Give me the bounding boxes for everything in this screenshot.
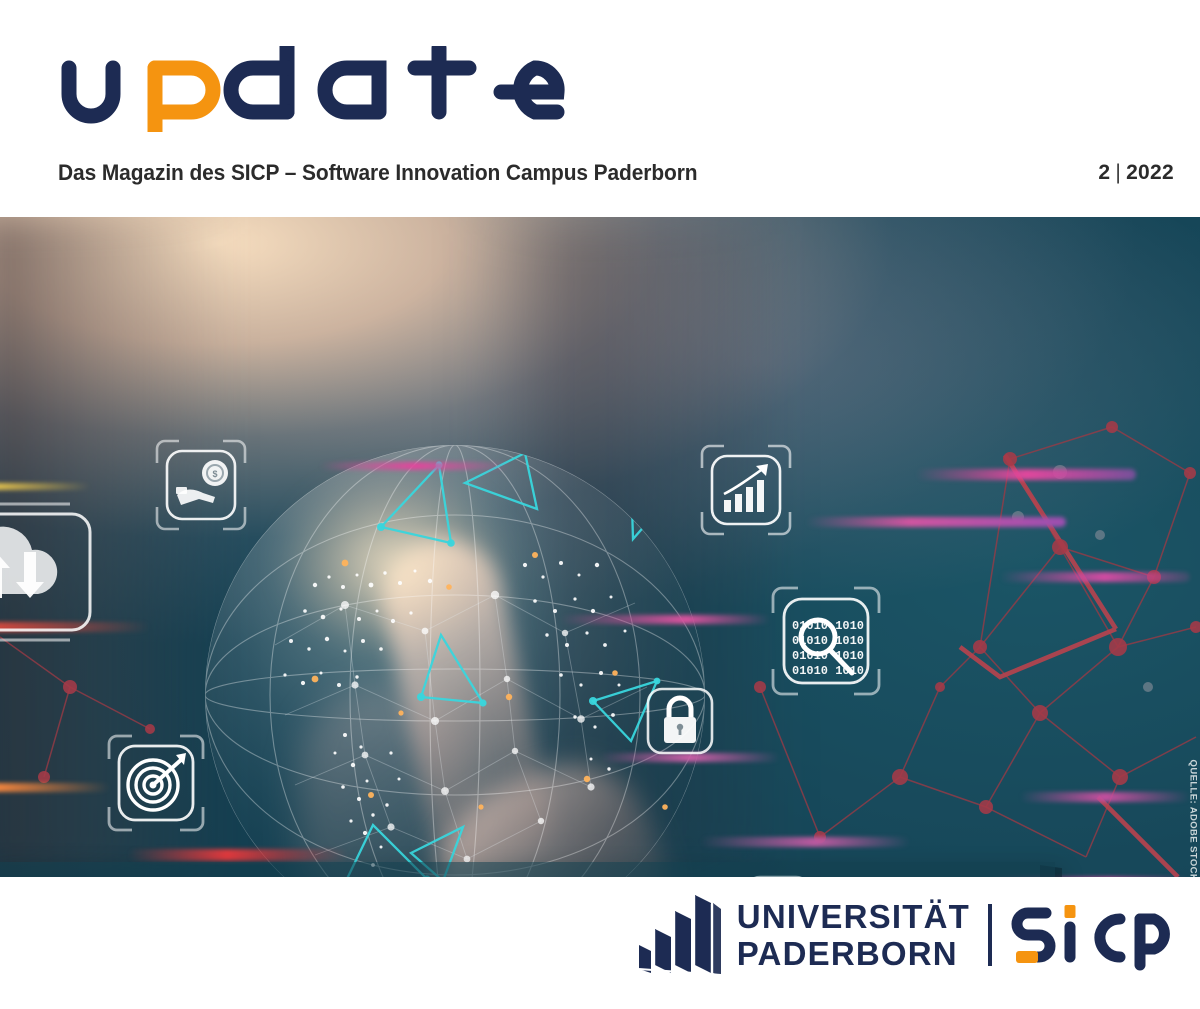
- padlock-icon: [638, 679, 722, 763]
- issue-number-value: 2: [1098, 161, 1110, 184]
- team-growth-icon: [735, 867, 821, 877]
- university-name-line2: PADERBORN: [737, 937, 970, 970]
- cover-subtitle: Das Magazin des SICP – Software Innovati…: [58, 160, 697, 186]
- streak-magenta-6: [1000, 572, 1190, 582]
- logo-divider: [988, 904, 992, 966]
- hand-money-gear-icon: $: [155, 439, 247, 531]
- university-name-line1: UNIVERSITÄT: [737, 900, 970, 933]
- streak-magenta-4: [806, 517, 1066, 527]
- wordmark-letter-e: [501, 68, 557, 112]
- streak-magenta-2: [560, 615, 770, 624]
- issue-separator: |: [1110, 161, 1126, 185]
- cover-header: Das Magazin des SICP – Software Innovati…: [0, 0, 1200, 217]
- sicp-letter-c: [1100, 919, 1120, 957]
- cloud-sync-icon: [0, 502, 100, 642]
- sicp-i-dot: [1065, 905, 1076, 918]
- sicp-s-foot: [1016, 951, 1038, 963]
- wordmark-letter-a: [325, 68, 379, 112]
- issue-year-value: 2022: [1126, 161, 1174, 184]
- streak-orange-1: [0, 783, 110, 792]
- streak-yellow-1: [0, 483, 90, 490]
- target-arrow-icon: [106, 733, 206, 833]
- university-name: UNIVERSITÄT PADERBORN: [737, 900, 970, 970]
- lock-shackle: [669, 698, 691, 717]
- update-wordmark: [57, 48, 617, 132]
- image-credit: QUELLE: ADOBE STOCK / TREECHA: [1187, 760, 1198, 877]
- cover-footer: UNIVERSITÄT PADERBORN: [0, 877, 1200, 1009]
- growth-arrow-head: [756, 464, 768, 476]
- headline-panel: [0, 862, 1055, 877]
- magazine-cover-page: Das Magazin des SICP – Software Innovati…: [0, 0, 1200, 1009]
- streak-red-2: [128, 849, 348, 861]
- streak-magenta-1: [320, 462, 510, 470]
- cover-hero-image: $: [0, 217, 1200, 877]
- binary-search-icon: 01010 1010 01010 1010 01010 1010 01010 1…: [770, 585, 882, 697]
- upb-building-mark: [637, 893, 723, 977]
- wordmark-letter-u: [69, 68, 113, 116]
- wordmark-letter-d-bowl: [231, 68, 287, 112]
- svg-text:$: $: [212, 469, 217, 479]
- bar-chart-growth-icon: [700, 444, 792, 536]
- streak-magenta-8: [700, 837, 910, 847]
- wordmark-letter-p-bowl: [155, 68, 213, 112]
- issue-number: 2|2022: [1098, 161, 1174, 185]
- streak-magenta-5: [916, 469, 1136, 480]
- sicp-letter-s: [1017, 913, 1050, 957]
- sicp-logo: [1008, 899, 1176, 971]
- bars: [724, 480, 764, 512]
- streak-magenta-7: [1020, 792, 1190, 802]
- footer-logos: UNIVERSITÄT PADERBORN: [637, 893, 1176, 977]
